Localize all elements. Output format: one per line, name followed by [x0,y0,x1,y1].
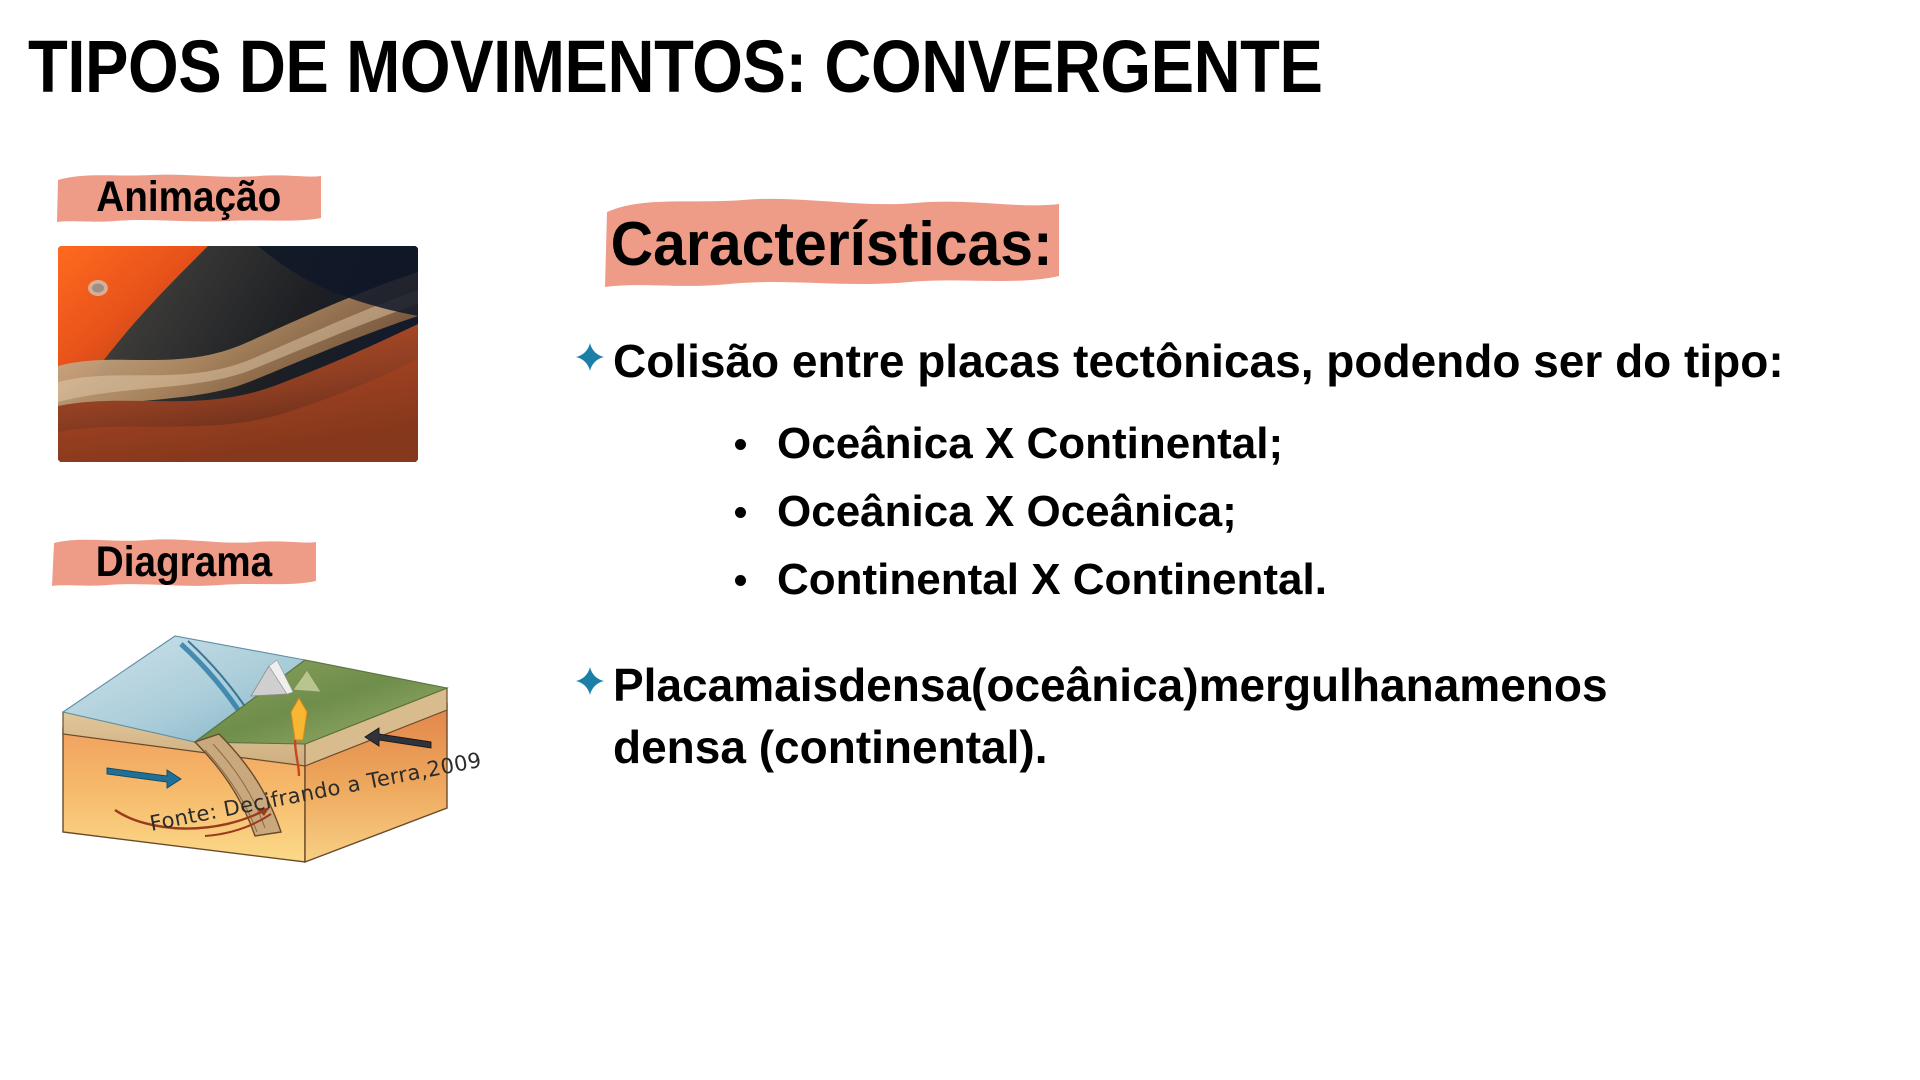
characteristics-heading: Características: [611,209,1053,280]
bullet-item-1-text: Colisão entre placas tectônicas, podendo… [613,330,1784,392]
bullet-item-2-line-2: densa (continental). [613,716,1608,778]
animation-subduction-image[interactable] [58,246,418,462]
bullet-item-2: Placamaisdensa(oceânica)mergulhanamenos … [575,654,1585,778]
page-title: TIPOS DE MOVIMENTOS: CONVERGENTE [28,26,1322,108]
bullet-item-1: Colisão entre placas tectônicas, podendo… [575,330,1585,392]
dot-bullet-icon [735,410,777,478]
bullet-item-1-sublist: Oceânica X Continental; Oceânica X Oceân… [575,410,1585,614]
badge-caracteristicas: Características: [597,192,1067,297]
sub-bullet-item: Oceânica X Continental; [735,410,1585,478]
diamond-bullet-icon [575,666,613,696]
badge-animacao-label: Animação [97,173,282,222]
badge-diagrama: Diagrama [50,531,318,593]
dot-bullet-icon [735,546,777,614]
characteristics-content: Colisão entre placas tectônicas, podendo… [575,330,1585,778]
diamond-bullet-icon [575,342,613,372]
sub-bullet-text: Continental X Continental. [777,546,1327,614]
badge-diagrama-label: Diagrama [96,538,272,587]
sub-bullet-item: Continental X Continental. [735,546,1585,614]
dot-bullet-icon [735,478,777,546]
badge-animacao: Animação [55,166,323,228]
block-diagram-convergence-image[interactable] [55,600,455,880]
sub-bullet-text: Oceânica X Oceânica; [777,478,1237,546]
bullet-item-2-line-1: Placamaisdensa(oceânica)mergulhanamenos [613,654,1608,716]
slide-canvas: TIPOS DE MOVIMENTOS: CONVERGENTE Animaçã… [0,0,1920,1080]
bullet-item-2-text: Placamaisdensa(oceânica)mergulhanamenos … [613,654,1608,778]
sub-bullet-text: Oceânica X Continental; [777,410,1283,478]
sub-bullet-item: Oceânica X Oceânica; [735,478,1585,546]
